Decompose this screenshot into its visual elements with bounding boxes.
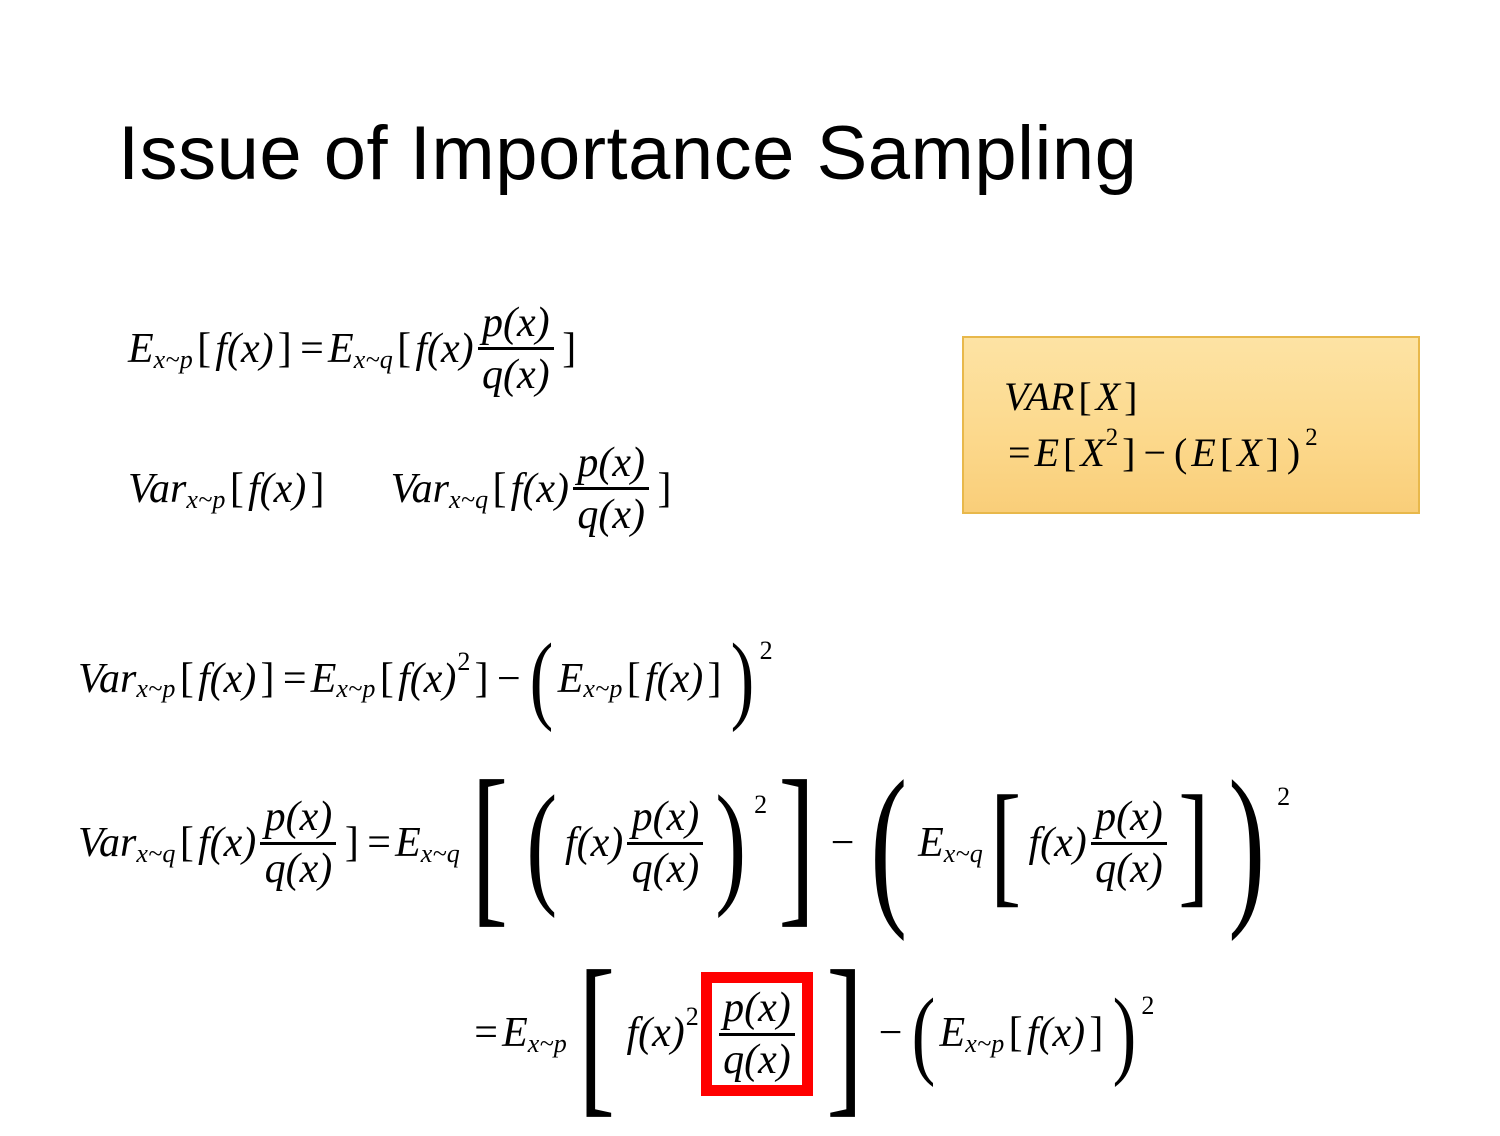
symbol-E: E [502, 1009, 528, 1057]
arg-x: (x) [638, 1009, 685, 1057]
fraction-denominator: q(x) [260, 847, 336, 892]
subscript-x-q: x~q [136, 839, 175, 869]
fraction-numerator: p(x) [478, 300, 554, 345]
fraction-bar [627, 842, 703, 845]
bracket-close-large: ] [778, 740, 815, 946]
bracket-open-large: [ [990, 764, 1021, 922]
symbol-f: f [398, 655, 410, 703]
symbol-f: f [511, 465, 523, 513]
fraction-denominator: q(x) [627, 847, 703, 892]
fraction-p-over-q: p(x)q(x) [623, 794, 707, 892]
equals-sign: = [363, 819, 395, 867]
bracket-open-large: [ [471, 740, 508, 946]
arg-x: (x) [657, 655, 704, 703]
equation-variance-simplified: = Ex~p[f(x)2p(x)q(x)] − (Ex~p[f(x)])2 [470, 930, 1154, 1136]
arg-x: (x) [577, 819, 624, 867]
bracket-open: [ [393, 325, 415, 373]
paren-open-large: ( [527, 764, 558, 922]
symbol-E: E [395, 819, 421, 867]
paren-close-large: ) [730, 622, 754, 735]
paren-open-large: ( [911, 977, 935, 1090]
subscript-x-p: x~p [528, 1029, 567, 1059]
bracket-close: ] [341, 819, 363, 867]
paren-close: ) [1283, 432, 1304, 474]
symbol-E: E [328, 325, 354, 373]
equation-variance-under-q: Varx~q[f(x)p(x)q(x)] = Ex~q[(f(x)p(x)q(x… [78, 740, 1290, 946]
arg-x: (x) [210, 819, 257, 867]
symbol-E: E [940, 1009, 966, 1057]
equation-expectation-identity: Ex~p[f(x)] = Ex~q[f(x)p(x)q(x)] [128, 300, 580, 398]
bracket-open: [ [1074, 376, 1095, 418]
bracket-close: ] [558, 325, 580, 373]
subscript-x-p: x~p [965, 1029, 1004, 1059]
fraction-denominator: q(x) [719, 1038, 795, 1083]
symbol-f: f [198, 819, 210, 867]
arg-x: (x) [522, 465, 569, 513]
paren-open-large: ( [870, 740, 907, 946]
fraction-bar [478, 347, 554, 350]
bracket-open: [ [376, 655, 398, 703]
fraction-bar [719, 1033, 795, 1036]
symbol-Var: Var [128, 465, 186, 513]
symbol-E: E [1191, 432, 1215, 474]
symbol-Var: Var [78, 819, 136, 867]
bracket-close: ] [1120, 376, 1141, 418]
subscript-x-q: x~q [944, 839, 983, 869]
bracket-open: [ [1004, 1009, 1026, 1057]
arg-x: (x) [260, 465, 307, 513]
arg-x: (x) [427, 325, 474, 373]
fraction-numerator: p(x) [1091, 794, 1167, 839]
minus-sign: − [493, 655, 525, 703]
bracket-open: [ [193, 325, 215, 373]
fraction-p-over-q: p(x)q(x) [569, 440, 653, 538]
arg-x: (x) [227, 325, 274, 373]
exponent-2: 2 [753, 790, 767, 820]
bracket-open: [ [176, 655, 198, 703]
symbol-E: E [128, 325, 154, 373]
fraction-denominator: q(x) [478, 352, 554, 397]
fraction-bar [1091, 842, 1167, 845]
bracket-open: [ [1216, 432, 1237, 474]
arg-x: (x) [1039, 1009, 1086, 1057]
arg-x: (x) [410, 655, 457, 703]
symbol-f: f [1027, 1009, 1039, 1057]
exponent-2: 2 [1105, 425, 1118, 451]
subscript-x-p: x~p [136, 674, 175, 704]
subscript-x-p: x~p [583, 674, 622, 704]
bracket-open: [ [488, 465, 510, 513]
exponent-2: 2 [456, 647, 470, 677]
paren-open-large: ( [529, 622, 553, 735]
symbol-f: f [215, 325, 227, 373]
symbol-f: f [198, 655, 210, 703]
callout-line-2: = E[X2] − (E[X])2 [1004, 432, 1418, 474]
symbol-Var: Var [391, 465, 449, 513]
variance-definition-callout: VAR[X] = E[X2] − (E[X])2 [962, 336, 1420, 514]
equation-variance-not-equal: Varx~p[f(x)] Varx~q[f(x)p(x)q(x)] [128, 440, 676, 538]
bracket-close-large: ] [826, 930, 863, 1136]
fraction-denominator: q(x) [573, 492, 649, 537]
fraction-denominator: q(x) [1091, 847, 1167, 892]
symbol-Var: Var [78, 655, 136, 703]
symbol-E: E [1035, 432, 1059, 474]
arg-x: (x) [1040, 819, 1087, 867]
exponent-2: 2 [1276, 782, 1290, 812]
equals-sign: = [470, 1009, 502, 1057]
bracket-close: ] [1118, 432, 1139, 474]
bracket-close: ] [306, 465, 328, 513]
symbol-f: f [415, 325, 427, 373]
paren-open: ( [1170, 432, 1191, 474]
subscript-x-p: x~p [154, 345, 193, 375]
bracket-close: ] [1262, 432, 1283, 474]
paren-close-large: ) [1112, 977, 1136, 1090]
exponent-2: 2 [685, 1002, 699, 1032]
minus-sign: − [827, 819, 859, 867]
exponent-2: 2 [1304, 425, 1317, 451]
bracket-open: [ [176, 819, 198, 867]
symbol-f: f [565, 819, 577, 867]
bracket-close-large: ] [1178, 764, 1209, 922]
fraction-bar [260, 842, 336, 845]
callout-line-1: VAR[X] [1004, 376, 1418, 418]
subscript-x-q: x~q [354, 345, 393, 375]
symbol-E: E [918, 819, 944, 867]
fraction-p-over-q: p(x)q(x) [474, 300, 558, 398]
equals-sign: = [296, 325, 328, 373]
bracket-open-large: [ [578, 930, 615, 1136]
symbol-X: X [1096, 376, 1120, 418]
symbol-E: E [558, 655, 584, 703]
symbol-VAR: VAR [1004, 376, 1074, 418]
bracket-close: ] [703, 655, 725, 703]
bracket-open: [ [1059, 432, 1080, 474]
symbol-X: X [1237, 432, 1261, 474]
importance-weight-highlight: p(x)q(x) [701, 972, 813, 1096]
fraction-numerator: p(x) [573, 440, 649, 485]
equation-variance-under-p: Varx~p[f(x)] = Ex~p[f(x)2] − (Ex~p[f(x)]… [78, 622, 773, 735]
subscript-x-p: x~p [186, 485, 225, 515]
bracket-close: ] [274, 325, 296, 373]
subscript-x-q: x~q [421, 839, 460, 869]
fraction-p-over-q: p(x)q(x) [1087, 794, 1171, 892]
fraction-numerator: p(x) [260, 794, 336, 839]
symbol-f: f [1029, 819, 1041, 867]
symbol-f: f [626, 1009, 638, 1057]
minus-sign: − [1139, 432, 1170, 474]
fraction-bar [573, 487, 649, 490]
bracket-close: ] [256, 655, 278, 703]
exponent-2: 2 [1140, 991, 1154, 1021]
minus-sign: − [875, 1009, 907, 1057]
fraction-p-over-q: p(x)q(x) [715, 985, 799, 1083]
symbol-f: f [248, 465, 260, 513]
paren-close-large: ) [1228, 740, 1265, 946]
bracket-close: ] [653, 465, 675, 513]
equals-sign: = [279, 655, 311, 703]
fraction-numerator: p(x) [627, 794, 703, 839]
subscript-x-p: x~p [336, 674, 375, 704]
bracket-open: [ [623, 655, 645, 703]
equals-sign: = [1004, 432, 1035, 474]
bracket-close: ] [1085, 1009, 1107, 1057]
symbol-E: E [311, 655, 337, 703]
fraction-p-over-q: p(x)q(x) [256, 794, 340, 892]
arg-x: (x) [210, 655, 257, 703]
symbol-f: f [645, 655, 657, 703]
page-title: Issue of Importance Sampling [118, 116, 1137, 192]
subscript-x-q: x~q [449, 485, 488, 515]
exponent-2: 2 [759, 636, 773, 666]
fraction-numerator: p(x) [719, 985, 795, 1030]
bracket-open: [ [226, 465, 248, 513]
paren-close-large: ) [715, 764, 746, 922]
symbol-X: X [1080, 432, 1104, 474]
bracket-close: ] [470, 655, 492, 703]
